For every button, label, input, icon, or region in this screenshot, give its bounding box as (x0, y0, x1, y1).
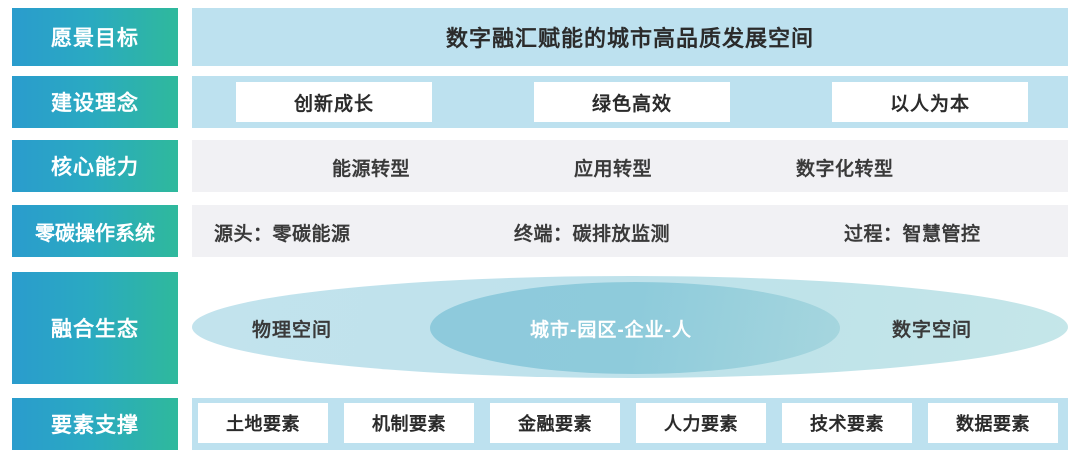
ecosystem-label-digital: 数字空间 (892, 315, 972, 342)
row-body-capability: 能源转型 应用转型 数字化转型 (192, 140, 1068, 192)
row-label-zero-carbon-os-text: 零碳操作系统 (35, 217, 155, 246)
row-label-vision-text: 愿景目标 (51, 22, 139, 52)
concept-chip-people[interactable]: 以人为本 (832, 82, 1028, 122)
strategy-framework-diagram: 愿景目标 数字融汇赋能的城市高品质发展空间 建设理念 创新成长 绿色高效 以人为… (0, 0, 1080, 459)
row-label-element-support-text: 要素支撑 (51, 409, 139, 439)
capability-item-application: 应用转型 (574, 154, 652, 181)
row-label-capability-text: 核心能力 (51, 151, 139, 181)
element-box-mechanism[interactable]: 机制要素 (344, 403, 474, 443)
element-box-human[interactable]: 人力要素 (636, 403, 766, 443)
row-label-concept: 建设理念 (12, 76, 178, 128)
row-body-concept: 创新成长 绿色高效 以人为本 (192, 76, 1068, 128)
row-label-zero-carbon-os: 零碳操作系统 (12, 205, 178, 257)
concept-chip-innovation[interactable]: 创新成长 (236, 82, 432, 122)
vision-title: 数字融汇赋能的城市高品质发展空间 (192, 8, 1068, 66)
capability-item-digital: 数字化转型 (796, 154, 894, 181)
concept-chip-row: 创新成长 绿色高效 以人为本 (192, 76, 1068, 128)
row-label-capability: 核心能力 (12, 140, 178, 192)
os-item-process: 过程：智慧管控 (844, 219, 981, 246)
row-label-concept-text: 建设理念 (51, 87, 139, 117)
row-label-element-support: 要素支撑 (12, 398, 178, 450)
row-body-element-support: 土地要素 机制要素 金融要素 人力要素 技术要素 数据要素 (192, 398, 1068, 450)
element-box-land[interactable]: 土地要素 (198, 403, 328, 443)
row-label-ecosystem-text: 融合生态 (51, 313, 139, 343)
concept-chip-green[interactable]: 绿色高效 (534, 82, 730, 122)
ecosystem-label-physical: 物理空间 (252, 315, 332, 342)
ecosystem-label-city-chain: 城市-园区-企业-人 (530, 315, 692, 342)
element-box-technology[interactable]: 技术要素 (782, 403, 912, 443)
row-body-vision: 数字融汇赋能的城市高品质发展空间 (192, 8, 1068, 66)
element-box-finance[interactable]: 金融要素 (490, 403, 620, 443)
row-body-zero-carbon-os: 源头：零碳能源 终端：碳排放监测 过程：智慧管控 (192, 205, 1068, 257)
row-label-ecosystem: 融合生态 (12, 272, 178, 384)
ecosystem-stage: 物理空间 城市-园区-企业-人 数字空间 (192, 272, 1068, 384)
os-item-source: 源头：零碳能源 (214, 219, 351, 246)
row-label-vision: 愿景目标 (12, 8, 178, 66)
capability-item-energy: 能源转型 (332, 154, 410, 181)
element-box-data[interactable]: 数据要素 (928, 403, 1058, 443)
os-item-terminal: 终端：碳排放监测 (514, 219, 670, 246)
